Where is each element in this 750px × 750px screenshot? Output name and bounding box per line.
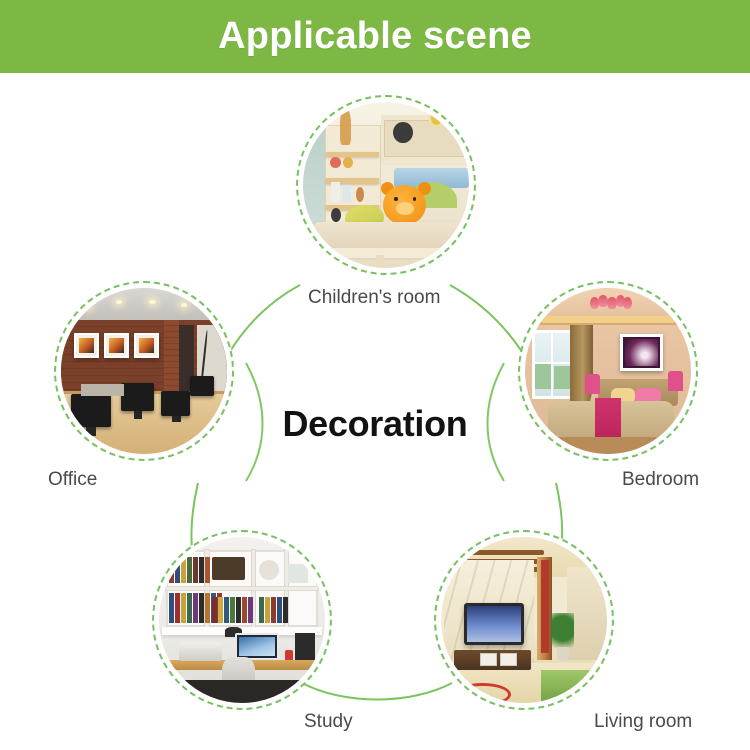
scene-diagram: Decoration [0,73,750,750]
node-label-bedroom: Bedroom [622,469,699,491]
photo-study [159,537,325,703]
node-label-living-room: Living room [594,711,692,733]
node-label-study: Study [304,711,353,733]
photo-bedroom [525,288,691,454]
node-circle-bedroom[interactable] [518,281,698,461]
node-label-childrens-room: Children's room [308,287,440,309]
header-banner: Applicable scene [0,0,750,73]
applicable-scene-infographic: Applicable scene Decoration [0,0,750,750]
photo-living-room [441,537,607,703]
node-circle-office[interactable] [54,281,234,461]
photo-office [61,288,227,454]
page-title: Applicable scene [218,15,532,58]
node-circle-childrens-room[interactable] [296,95,476,275]
node-label-office: Office [48,469,97,491]
node-circle-living-room[interactable] [434,530,614,710]
node-circle-study[interactable] [152,530,332,710]
photo-childrens-room [303,102,469,268]
